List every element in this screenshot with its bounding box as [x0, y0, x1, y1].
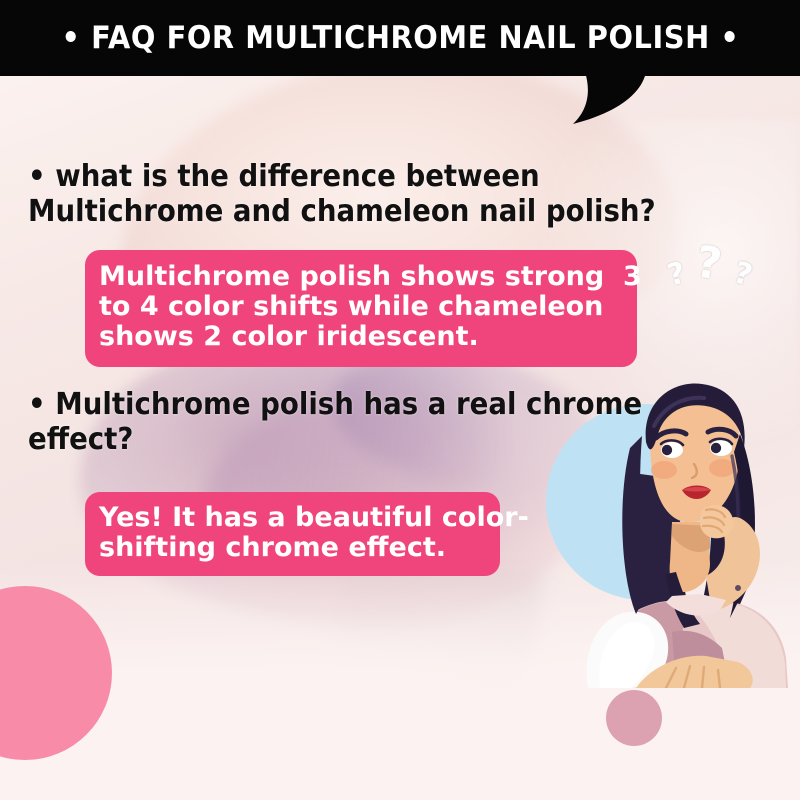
header-bar: • FAQ FOR MULTICHROME NAIL POLISH • — [0, 0, 800, 76]
faq-answer-2-line: Yes! It has a beautiful color- — [99, 503, 486, 533]
faq-question-2: • Multichrome polish has a real chrome e… — [28, 388, 672, 458]
faq-answer-1-line: to 4 color shifts while chameleon — [99, 292, 623, 322]
faq-answer-2-line: shifting chrome effect. — [99, 533, 486, 563]
faq-question-1: • what is the difference between Multich… — [28, 160, 709, 230]
faq-answer-1-line: Multichrome polish shows strong 3 — [99, 262, 623, 292]
faq-content: • what is the difference between Multich… — [0, 0, 800, 800]
speech-bubble-tail-icon — [560, 72, 660, 128]
faq-poster: ? ? ? • FAQ FOR MULTICHROME NAIL POLISH … — [0, 0, 800, 800]
faq-answer-1: Multichrome polish shows strong 3 to 4 c… — [85, 250, 637, 367]
faq-answer-2: Yes! It has a beautiful color- shifting … — [85, 492, 500, 576]
page-title: • FAQ FOR MULTICHROME NAIL POLISH • — [61, 20, 739, 56]
faq-answer-1-line: shows 2 color iridescent. — [99, 322, 623, 352]
